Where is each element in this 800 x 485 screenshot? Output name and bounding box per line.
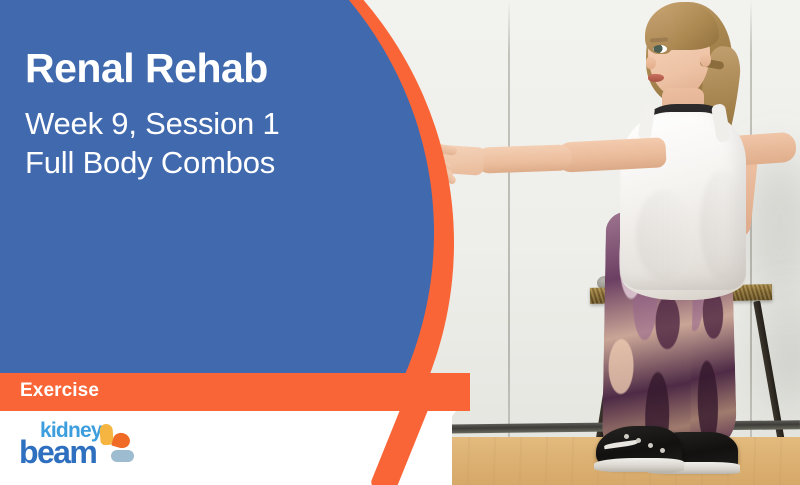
page-title: Renal Rehab (25, 48, 268, 89)
category-badge: Exercise (20, 380, 99, 402)
logo-droplet-icon (111, 431, 131, 450)
shoe-lace-dot (624, 434, 629, 439)
thumbnail-card: Renal Rehab Week 9, Session 1 Full Body … (0, 0, 800, 485)
eye (653, 45, 667, 53)
tank-fold (636, 190, 692, 280)
wall-seam-icon (508, 0, 510, 437)
shoe-lace-dot (648, 443, 653, 448)
ear (700, 52, 711, 67)
subtitle-line-2: Full Body Combos (25, 143, 280, 182)
logo-word-beam: beam (19, 436, 96, 468)
shoe-sole-front (594, 458, 684, 472)
shoe-lace-dot (660, 448, 665, 453)
nose (646, 57, 656, 69)
kidney-beam-logo[interactable]: kidney beam (18, 420, 138, 474)
tank-fold (700, 170, 744, 280)
shoe-lace-dot (636, 438, 641, 443)
logo-bar-icon (111, 450, 134, 462)
arm-left-forearm (476, 144, 573, 173)
subtitle-line-1: Week 9, Session 1 (25, 104, 280, 143)
page-subtitle: Week 9, Session 1 Full Body Combos (25, 104, 280, 182)
arm-left-upper (555, 137, 666, 173)
